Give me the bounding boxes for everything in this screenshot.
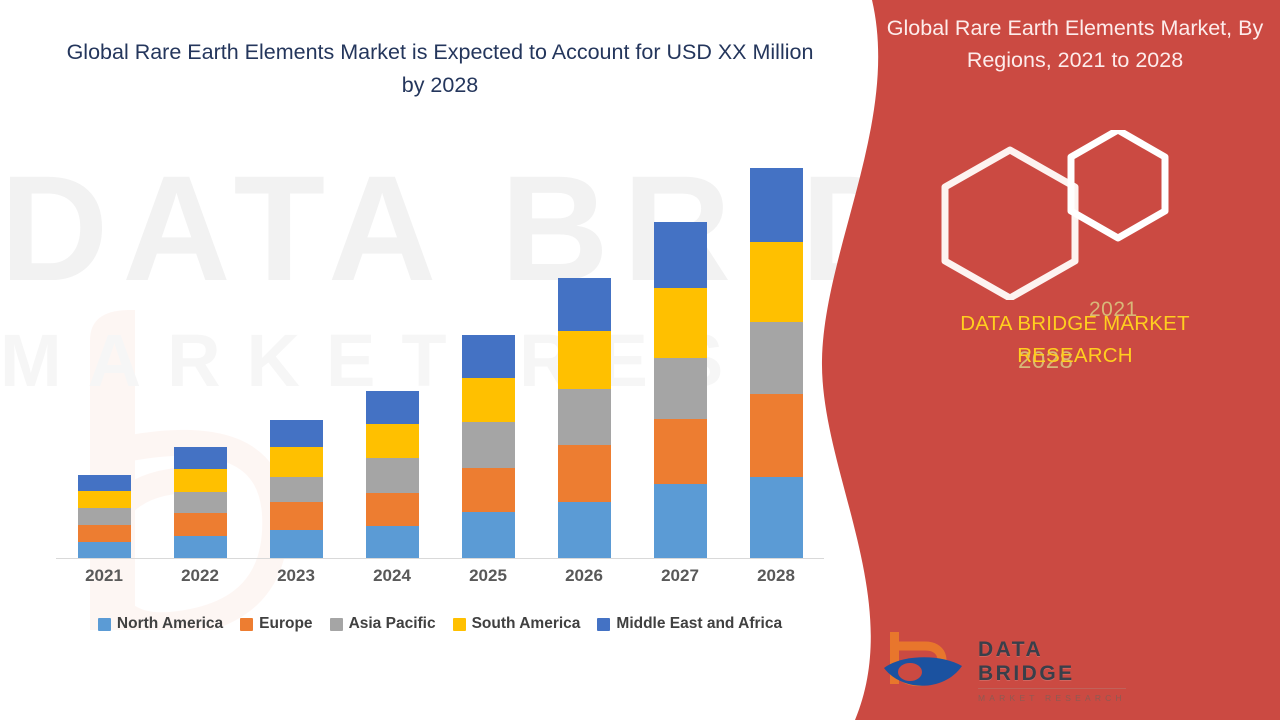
bar-segment	[270, 477, 323, 502]
bar-segment	[174, 492, 227, 513]
legend-swatch-icon	[330, 618, 343, 631]
bar-segment	[654, 358, 707, 419]
x-axis-label-2028: 2028	[728, 566, 824, 596]
bar-segment	[654, 288, 707, 358]
bar-column-2026	[536, 140, 632, 558]
bar-segment	[558, 445, 611, 501]
bar-segment	[750, 477, 803, 559]
chart-legend: North AmericaEuropeAsia PacificSouth Ame…	[56, 615, 824, 633]
x-axis-label-2024: 2024	[344, 566, 440, 596]
bar-segment	[750, 242, 803, 321]
hexagon-2021	[1071, 130, 1165, 238]
stacked-bar	[462, 335, 515, 558]
bar-segment	[78, 525, 131, 543]
bar-segment	[366, 526, 419, 558]
bar-segment	[270, 502, 323, 530]
bar-segment	[366, 391, 419, 424]
x-axis-labels: 20212022202320242025202620272028	[56, 566, 824, 596]
logo-mark-icon	[880, 628, 972, 696]
stacked-bar	[78, 475, 131, 558]
stacked-bar-series	[56, 140, 824, 558]
bar-segment	[462, 512, 515, 558]
brand-name: DATA BRIDGE MARKET RESEARCH	[870, 308, 1280, 372]
bar-segment	[558, 389, 611, 445]
infographic-root: DATA BRIDGE MARKET RESEARCH Global Rare …	[0, 0, 1280, 720]
legend-item[interactable]: North America	[98, 615, 223, 633]
bar-segment	[270, 420, 323, 447]
bar-column-2024	[344, 140, 440, 558]
legend-label: Europe	[259, 615, 312, 633]
legend-label: Middle East and Africa	[616, 615, 782, 633]
x-axis-line	[56, 558, 824, 559]
chart-title: Global Rare Earth Elements Market is Exp…	[60, 36, 820, 103]
legend-label: Asia Pacific	[349, 615, 436, 633]
bar-segment	[174, 447, 227, 469]
panel-title: Global Rare Earth Elements Market, By Re…	[870, 12, 1280, 77]
stacked-bar	[558, 278, 611, 558]
bar-segment	[78, 508, 131, 525]
legend-label: South America	[472, 615, 581, 633]
brand-panel-content: Global Rare Earth Elements Market, By Re…	[860, 0, 1280, 720]
bar-segment	[366, 493, 419, 525]
bar-segment	[654, 419, 707, 484]
bar-segment	[462, 378, 515, 422]
x-axis-label-2023: 2023	[248, 566, 344, 596]
bar-column-2023	[248, 140, 344, 558]
stacked-bar	[270, 420, 323, 558]
legend-item[interactable]: Asia Pacific	[330, 615, 436, 633]
x-axis-label-2025: 2025	[440, 566, 536, 596]
legend-item[interactable]: South America	[453, 615, 581, 633]
legend-swatch-icon	[240, 618, 253, 631]
brand-line-2: RESEARCH	[1017, 344, 1133, 367]
bar-segment	[78, 475, 131, 491]
stacked-bar	[366, 391, 419, 558]
bar-segment	[174, 469, 227, 492]
logo-sub-text: MARKET RESEARCH	[978, 693, 1130, 703]
bar-segment	[270, 530, 323, 558]
bar-segment	[366, 424, 419, 457]
bar-segment	[462, 422, 515, 468]
bar-segment	[174, 513, 227, 536]
legend-item[interactable]: Europe	[240, 615, 312, 633]
bar-segment	[750, 168, 803, 242]
x-axis-label-2026: 2026	[536, 566, 632, 596]
bar-column-2022	[152, 140, 248, 558]
x-axis-label-2027: 2027	[632, 566, 728, 596]
bar-segment	[270, 447, 323, 476]
legend-swatch-icon	[597, 618, 610, 631]
bar-segment	[558, 278, 611, 331]
x-axis-label-2022: 2022	[152, 566, 248, 596]
bar-segment	[462, 335, 515, 378]
hexagon-shapes	[860, 130, 1280, 300]
x-axis-label-2021: 2021	[56, 566, 152, 596]
bar-segment	[174, 536, 227, 558]
bar-segment	[654, 222, 707, 289]
hexagon-2028	[945, 150, 1075, 298]
stacked-bar	[174, 447, 227, 558]
legend-swatch-icon	[98, 618, 111, 631]
legend-swatch-icon	[453, 618, 466, 631]
stacked-bar	[750, 168, 803, 558]
legend-label: North America	[117, 615, 223, 633]
chart-panel: DATA BRIDGE MARKET RESEARCH Global Rare …	[0, 0, 880, 720]
bar-segment	[654, 484, 707, 558]
bar-segment	[750, 322, 803, 394]
bar-segment	[78, 542, 131, 558]
bar-segment	[558, 331, 611, 388]
bar-column-2021	[56, 140, 152, 558]
bar-column-2027	[632, 140, 728, 558]
logo-main-text: DATA BRIDGE	[978, 638, 1130, 686]
bar-segment	[462, 468, 515, 512]
bar-segment	[78, 491, 131, 508]
legend-item[interactable]: Middle East and Africa	[597, 615, 782, 633]
logo: DATA BRIDGE MARKET RESEARCH	[880, 628, 1130, 700]
hexagon-group: 2028 2021	[860, 130, 1280, 300]
bar-segment	[558, 502, 611, 558]
bar-segment	[366, 458, 419, 494]
bar-column-2028	[728, 140, 824, 558]
logo-divider	[978, 688, 1126, 689]
brand-line-1: DATA BRIDGE MARKET	[960, 312, 1190, 335]
logo-text: DATA BRIDGE MARKET RESEARCH	[978, 638, 1130, 703]
bar-segment	[750, 394, 803, 477]
stacked-bar	[654, 222, 707, 558]
bar-column-2025	[440, 140, 536, 558]
